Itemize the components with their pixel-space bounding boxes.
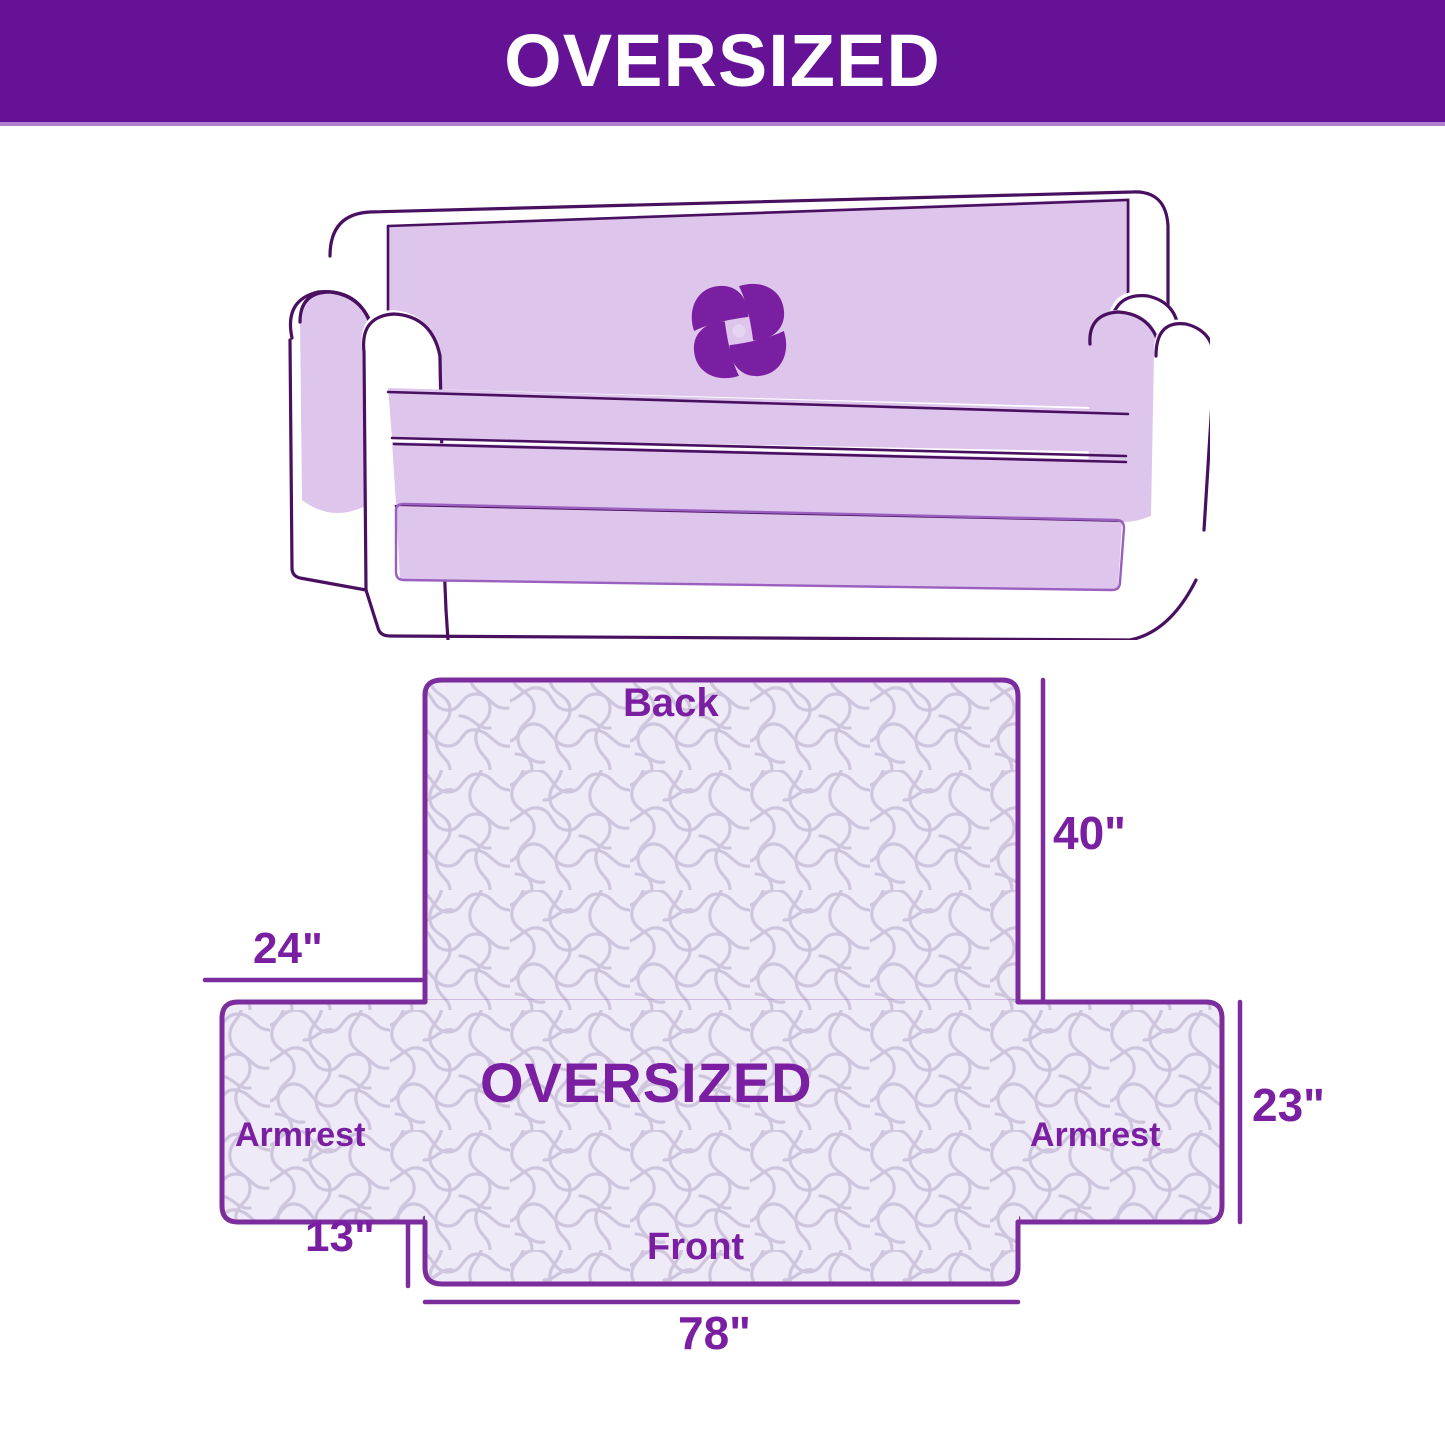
flat-layout-diagram: Back OVERSIZED Armrest Armrest Front 40"…	[150, 650, 1350, 1370]
dimension-label-13: 13"	[305, 1215, 375, 1259]
pinwheel-fan-logo	[692, 284, 786, 378]
page-title: OVERSIZED	[504, 24, 941, 98]
dimension-label-24: 24"	[253, 927, 323, 971]
panel-label-front: Front	[647, 1228, 744, 1266]
panel-label-armrest-left: Armrest	[235, 1118, 365, 1152]
sofa-illustration: .sf{fill:#ddc5ec;} .wf{fill:#ffffff;} .l…	[270, 170, 1210, 640]
dimension-label-78: 78"	[678, 1310, 751, 1356]
panel-armrest-right	[1015, 1002, 1222, 1222]
product-dimension-infographic: OVERSIZED .sf{fill:#ddc5ec;} .wf{fill:#f…	[0, 0, 1445, 1445]
panel-label-armrest-right: Armrest	[1030, 1118, 1160, 1152]
panel-armrest-left	[222, 1002, 428, 1222]
dimension-label-23: 23"	[1252, 1082, 1325, 1128]
panel-label-back: Back	[623, 683, 719, 723]
banner-underline-divider	[0, 122, 1445, 126]
header-banner: OVERSIZED	[0, 0, 1445, 122]
center-label-oversized: OVERSIZED	[480, 1055, 813, 1111]
dimension-label-40: 40"	[1053, 810, 1126, 856]
panel-back	[425, 680, 1018, 1002]
